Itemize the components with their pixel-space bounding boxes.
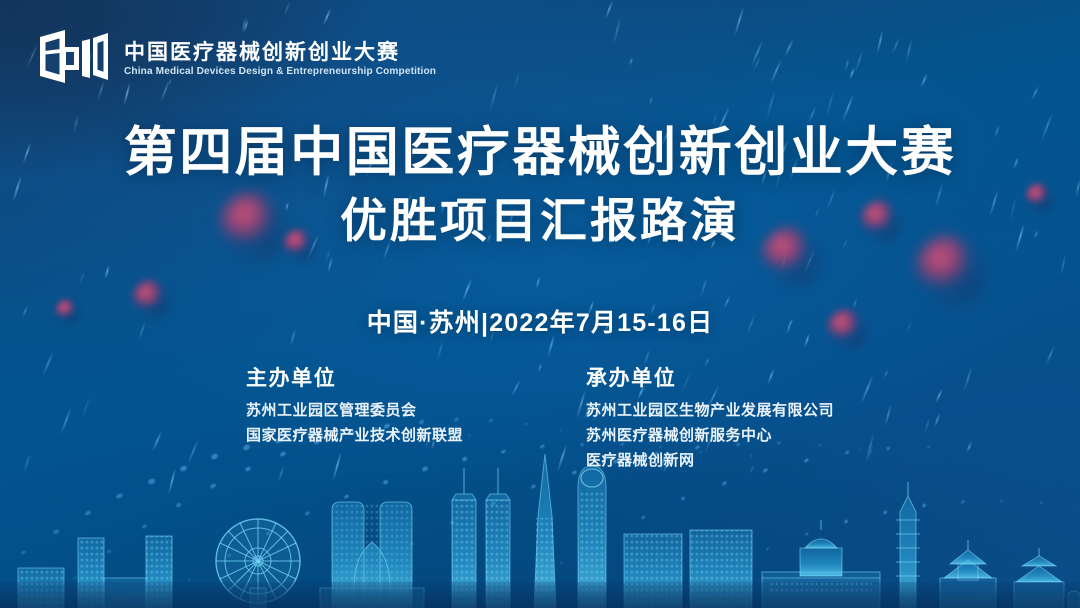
organizer-section: 主办单位 苏州工业园区管理委员会 国家医疗器械产业技术创新联盟 承办单位 苏州工… bbox=[0, 368, 1080, 473]
organizer-entry: 国家医疗器械产业技术创新联盟 bbox=[246, 424, 476, 449]
organizer-column-coorganizer: 承办单位 苏州工业园区生物产业发展有限公司 苏州医疗器械创新服务中心 医疗器械创… bbox=[586, 368, 834, 473]
event-poster: 中国医疗器械创新创业大赛 China Medical Devices Desig… bbox=[0, 0, 1080, 608]
event-date-location: 中国·苏州|2022年7月15-16日 bbox=[0, 303, 1080, 339]
organizer-heading: 承办单位 bbox=[586, 368, 834, 389]
organizer-column-host: 主办单位 苏州工业园区管理委员会 国家医疗器械产业技术创新联盟 bbox=[246, 368, 476, 473]
brand-title-cn: 中国医疗器械创新创业大赛 bbox=[124, 42, 449, 63]
organizer-entry: 苏州医疗器械创新服务中心 bbox=[586, 424, 834, 449]
organizer-entry: 医疗器械创新网 bbox=[586, 449, 834, 474]
poster-title-block: 第四届中国医疗器械创新创业大赛 优胜项目汇报路演 bbox=[0, 122, 1080, 249]
brand-logo-text: 中国医疗器械创新创业大赛 China Medical Devices Desig… bbox=[124, 42, 449, 77]
open-door-window-logo-icon bbox=[38, 28, 110, 90]
organizer-entry: 苏州工业园区生物产业发展有限公司 bbox=[586, 399, 834, 424]
poster-title-sub: 优胜项目汇报路演 bbox=[0, 193, 1080, 249]
poster-title-main: 第四届中国医疗器械创新创业大赛 bbox=[0, 122, 1080, 185]
brand-logo: 中国医疗器械创新创业大赛 China Medical Devices Desig… bbox=[38, 28, 449, 90]
organizer-heading: 主办单位 bbox=[246, 368, 476, 389]
brand-title-en: China Medical Devices Design & Entrepren… bbox=[124, 66, 436, 77]
organizer-entry: 苏州工业园区管理委员会 bbox=[246, 399, 476, 424]
